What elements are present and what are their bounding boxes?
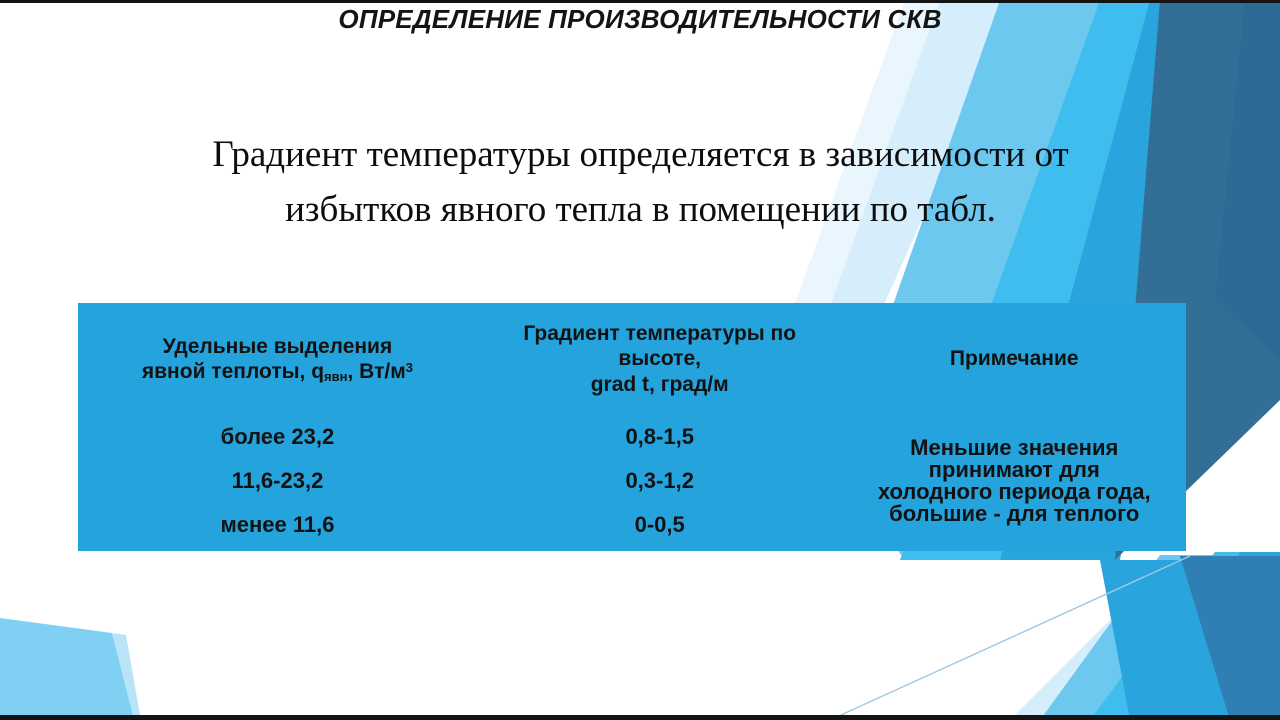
note-line-4: большие - для теплого — [843, 503, 1187, 525]
note-line-3: холодного периода года, — [843, 481, 1187, 503]
deco-shape-cyan-bottom — [1090, 552, 1280, 720]
cell-heat-0: более 23,2 — [78, 415, 477, 459]
gradient-table: Удельные выделения явной теплоты, qявн, … — [78, 303, 1186, 551]
letterbox-top — [0, 0, 1280, 3]
slide-title-container: ОПРЕДЕЛЕНИЕ ПРОИЗВОДИТЕЛЬНОСТИ СКВ — [0, 4, 1280, 35]
deco-shape-pale-bottom — [1010, 560, 1280, 720]
column-header-note: Примечание — [843, 303, 1187, 415]
letterbox-bottom — [0, 715, 1280, 720]
column-header-specific-heat-line2: явной теплоты, qявн, Вт/м3 — [78, 359, 477, 384]
table-header-row: Удельные выделения явной теплоты, qявн, … — [78, 303, 1186, 415]
cell-heat-2: менее 11,6 — [78, 503, 477, 547]
gradient-table-grid: Удельные выделения явной теплоты, qявн, … — [78, 303, 1186, 547]
column-header-gradient: Градиент температуры по высоте, grad t, … — [477, 303, 843, 415]
deco-shape-midblue-bottom — [1100, 560, 1280, 720]
cell-note: Меньшие значения принимают для холодного… — [843, 415, 1187, 547]
deco-shape-bottom-left-edge — [112, 633, 140, 715]
deco-shape-dark-top — [1215, 0, 1280, 360]
note-line-1: Меньшие значения — [843, 437, 1187, 459]
cell-heat-1: 11,6-23,2 — [78, 459, 477, 503]
presentation-slide: ОПРЕДЕЛЕНИЕ ПРОИЗВОДИТЕЛЬНОСТИ СКВ Гради… — [0, 0, 1280, 720]
cell-grad-2: 0-0,5 — [477, 503, 843, 547]
deco-shape-mid-bottom — [1160, 552, 1280, 720]
col1-post: , Вт/м — [348, 360, 406, 383]
column-header-gradient-line2: высоте, — [477, 346, 843, 371]
deco-shape-steel-bottom — [1180, 556, 1280, 720]
column-header-specific-heat-line1: Удельные выделения — [78, 334, 477, 359]
deco-shape-bottom-left — [0, 618, 133, 715]
deco-shape-light-bottom — [1040, 555, 1280, 720]
cell-grad-0: 0,8-1,5 — [477, 415, 843, 459]
deco-hairline — [830, 556, 1190, 720]
col1-pre: явной теплоты, q — [142, 360, 324, 383]
table-body: более 23,2 0,8-1,5 Меньшие значения прин… — [78, 415, 1186, 547]
note-line-2: принимают для — [843, 459, 1187, 481]
col1-superscript: 3 — [406, 360, 413, 375]
column-header-specific-heat: Удельные выделения явной теплоты, qявн, … — [78, 303, 477, 415]
column-header-gradient-line1: Градиент температуры по — [477, 321, 843, 346]
heading-line-1: Градиент температуры определяется в зави… — [118, 128, 1163, 183]
col1-subscript: явн — [324, 369, 347, 384]
column-header-gradient-line3: grad t, град/м — [477, 372, 843, 397]
cell-grad-1: 0,3-1,2 — [477, 459, 843, 503]
table-row: более 23,2 0,8-1,5 Меньшие значения прин… — [78, 415, 1186, 459]
heading-line-2: избытков явного тепла в помещении по таб… — [118, 183, 1163, 238]
slide-heading: Градиент температуры определяется в зави… — [118, 128, 1163, 238]
slide-title: ОПРЕДЕЛЕНИЕ ПРОИЗВОДИТЕЛЬНОСТИ СКВ — [338, 4, 941, 35]
